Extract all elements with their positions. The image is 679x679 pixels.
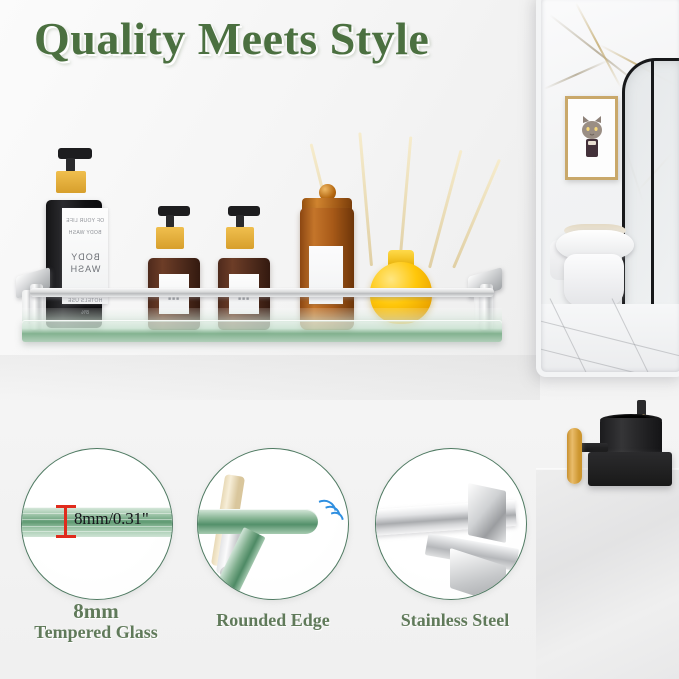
steel-bracket-block: [468, 483, 506, 543]
glass-shower-enclosure: [622, 58, 679, 314]
caption-thickness: 8mm: [6, 601, 186, 622]
framed-cat-art: [565, 96, 618, 180]
caption-rounded-edge: Rounded Edge: [183, 610, 363, 631]
tile-floor-reflection: [540, 304, 679, 373]
black-tray: [588, 452, 672, 486]
toilet-body: [564, 254, 624, 306]
caption-tempered-glass: 8mm Tempered Glass: [6, 601, 186, 643]
feature-badge-rounded-edge: [197, 448, 349, 600]
glass-wall-shelf: [16, 258, 508, 364]
caption-stainless-steel: Stainless Steel: [360, 610, 550, 631]
feature-badge-tempered-glass: 8mm/0.31": [21, 448, 173, 600]
rounded-glass-edge: [197, 509, 318, 534]
bathroom-counter: [536, 470, 679, 679]
infographic-canvas: Quality Meets Style: [0, 0, 679, 679]
guard-rail: [30, 288, 494, 297]
thickness-value: 8mm/0.31": [74, 509, 149, 529]
caption-subtitle: Rounded Edge: [216, 610, 330, 630]
wooden-handle: [567, 428, 582, 484]
measure-marker: [56, 535, 76, 538]
feature-badge-stainless-steel: [375, 448, 527, 600]
caption-subtitle: Stainless Steel: [401, 610, 510, 630]
page-title: Quality Meets Style: [34, 12, 429, 65]
measure-marker: [64, 505, 67, 537]
cat-icon: [577, 115, 607, 161]
caption-subtitle: Tempered Glass: [34, 622, 158, 642]
tempered-glass-panel: [22, 320, 502, 342]
wall-mirror: [536, 0, 679, 377]
